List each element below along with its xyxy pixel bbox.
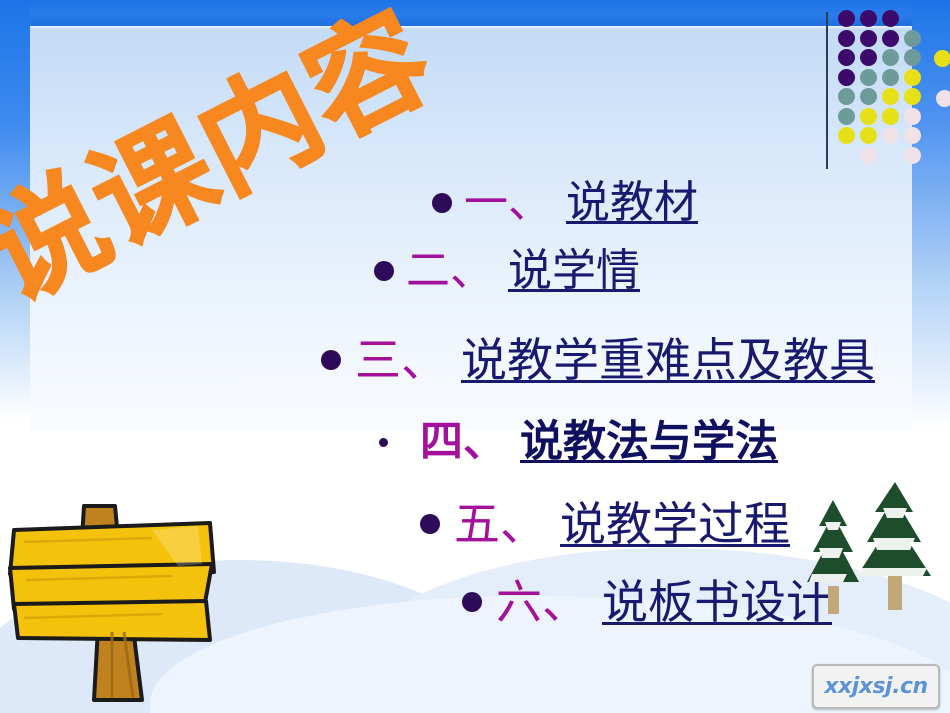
snowy-pine-trees-clipart: [795, 478, 950, 628]
list-item-label: 说教学重难点及教具: [461, 336, 875, 384]
list-item[interactable]: 五、说教学过程: [420, 500, 790, 548]
site-watermark: xxjxsj.cn: [812, 664, 940, 709]
list-item-label: 说学情: [508, 248, 640, 294]
list-bullet-icon: [432, 193, 452, 213]
list-item[interactable]: 六、说板书设计: [462, 578, 832, 626]
watermark-text: xxjxsj.cn: [824, 674, 927, 699]
list-item-number: 三、: [355, 336, 447, 384]
list-item-number: 六、: [496, 578, 588, 626]
list-bullet-icon: [321, 350, 341, 370]
list-item-label: 说教学过程: [560, 500, 790, 548]
list-bullet-icon: [462, 592, 482, 612]
list-bullet-icon: [374, 261, 394, 281]
list-item[interactable]: 二、说学情: [374, 248, 640, 294]
list-item-number: 四、: [420, 420, 506, 465]
pine-tree-small: [807, 500, 859, 614]
presentation-slide: 说课内容 一、说教材二、说学情三、说教学重难点及教具四、说教法与学法五、说教学过…: [0, 0, 950, 713]
list-bullet-icon: [420, 514, 440, 534]
list-item-label: 说教法与学法: [520, 420, 778, 465]
list-item-number: 一、: [464, 180, 552, 226]
list-item[interactable]: 三、说教学重难点及教具: [321, 336, 875, 384]
list-item-number: 五、: [454, 500, 546, 548]
pine-tree-large: [857, 482, 931, 610]
list-bullet-icon: [379, 438, 388, 447]
list-item[interactable]: 四、说教法与学法: [379, 420, 778, 465]
list-item-number: 二、: [406, 248, 494, 294]
list-item[interactable]: 一、说教材: [432, 180, 698, 226]
list-item-label: 说教材: [566, 180, 698, 226]
wooden-signpost-clipart: [2, 468, 272, 713]
